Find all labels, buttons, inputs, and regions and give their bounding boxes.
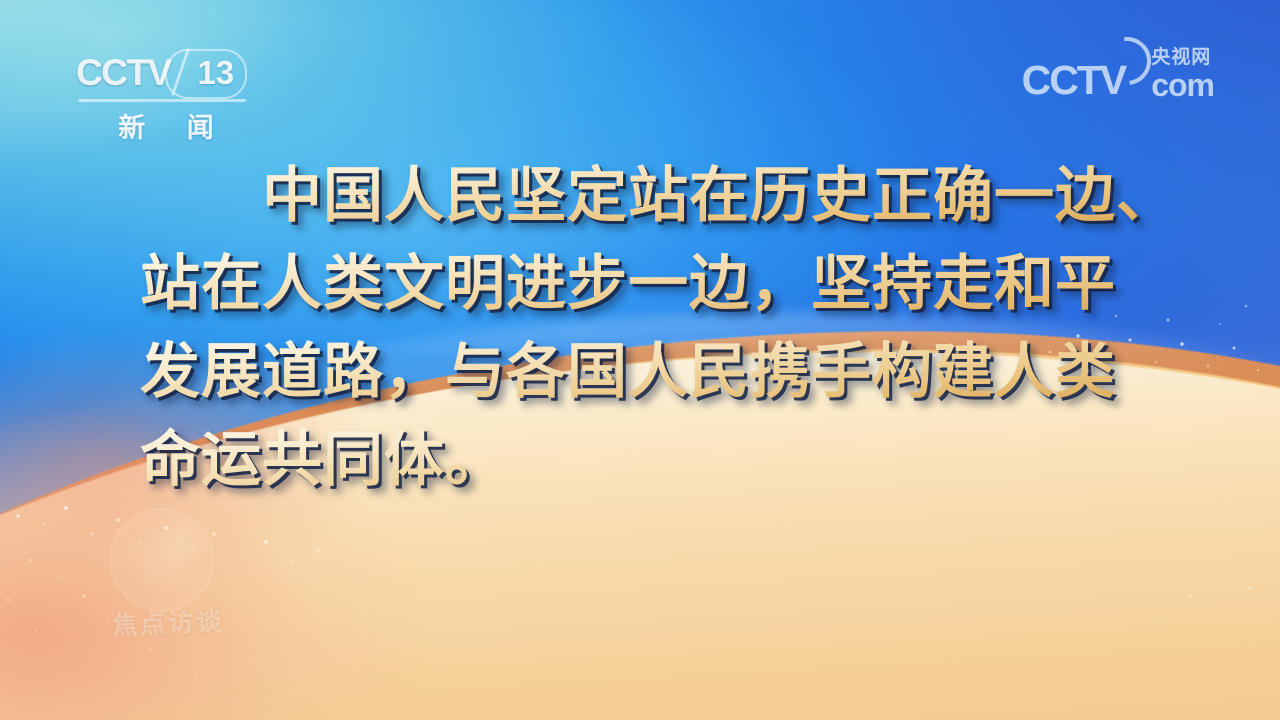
broadcast-frame: CCTV 13 新 闻 CCTV 央视网 com 焦点访谈 中国人民坚定站在历史… <box>0 0 1280 720</box>
quote-line-2: 站在人类文明进步一边，坚持走和平 <box>140 240 1140 328</box>
cctv-com-watermark: CCTV 央视网 com <box>1022 48 1214 101</box>
watermark-row: CCTV 央视网 com <box>1022 48 1214 101</box>
channel-bug-underline <box>78 99 246 102</box>
channel-bug-row: CCTV 13 <box>76 50 266 94</box>
channel-number: 13 <box>185 56 234 89</box>
cctv-wordmark: CCTV <box>76 54 171 91</box>
watermark-tld: com <box>1151 69 1214 101</box>
quote-line-4: 命运共同体。 <box>140 416 1140 504</box>
quote-line-1: 中国人民坚定站在历史正确一边、 <box>140 152 1140 240</box>
watermark-cn-label: 央视网 <box>1151 48 1214 68</box>
quote-line-3: 发展道路，与各国人民携手构建人类 <box>140 328 1140 416</box>
watermark-text-stack: 央视网 com <box>1151 48 1214 101</box>
channel-name-label: 新 闻 <box>76 106 256 145</box>
channel-number-badge: 13 <box>177 50 243 94</box>
quote-text-block: 中国人民坚定站在历史正确一边、 站在人类文明进步一边，坚持走和平 发展道路，与各… <box>0 152 1280 504</box>
cctv13-channel-bug: CCTV 13 新 闻 <box>76 50 266 145</box>
watermark-cctv-wordmark: CCTV <box>1022 60 1126 101</box>
